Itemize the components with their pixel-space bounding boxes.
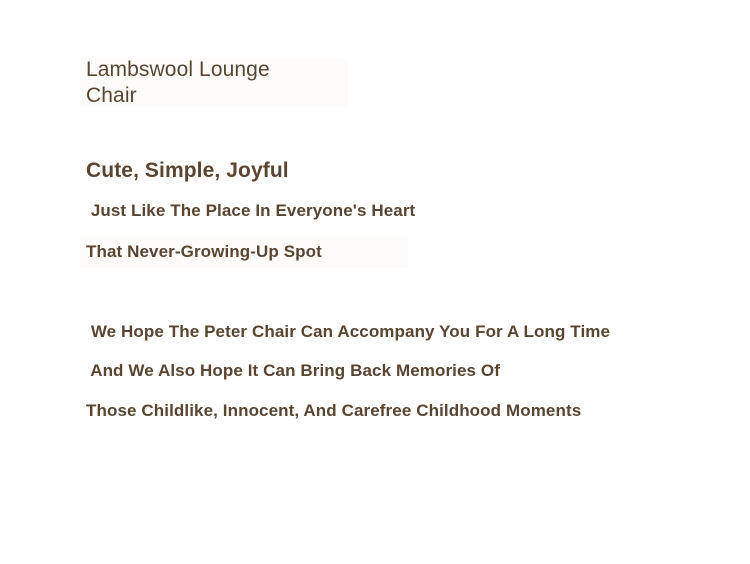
message-line-1: We Hope The Peter Chair Can Accompany Yo… (86, 320, 610, 344)
product-title: Lambswool Lounge Chair (86, 57, 386, 109)
tagline-subline: Just Like The Place In Everyone's Heart (86, 199, 415, 223)
message-line-2: And We Also Hope It Can Bring Back Memor… (86, 359, 500, 383)
product-description-page: Lambswool Lounge Chair Cute, Simple, Joy… (0, 0, 750, 564)
tagline-headline: Cute, Simple, Joyful (86, 158, 289, 184)
message-line-3: Those Childlike, Innocent, And Carefree … (86, 399, 581, 423)
tagline-spotline: That Never-Growing-Up Spot (86, 240, 322, 264)
